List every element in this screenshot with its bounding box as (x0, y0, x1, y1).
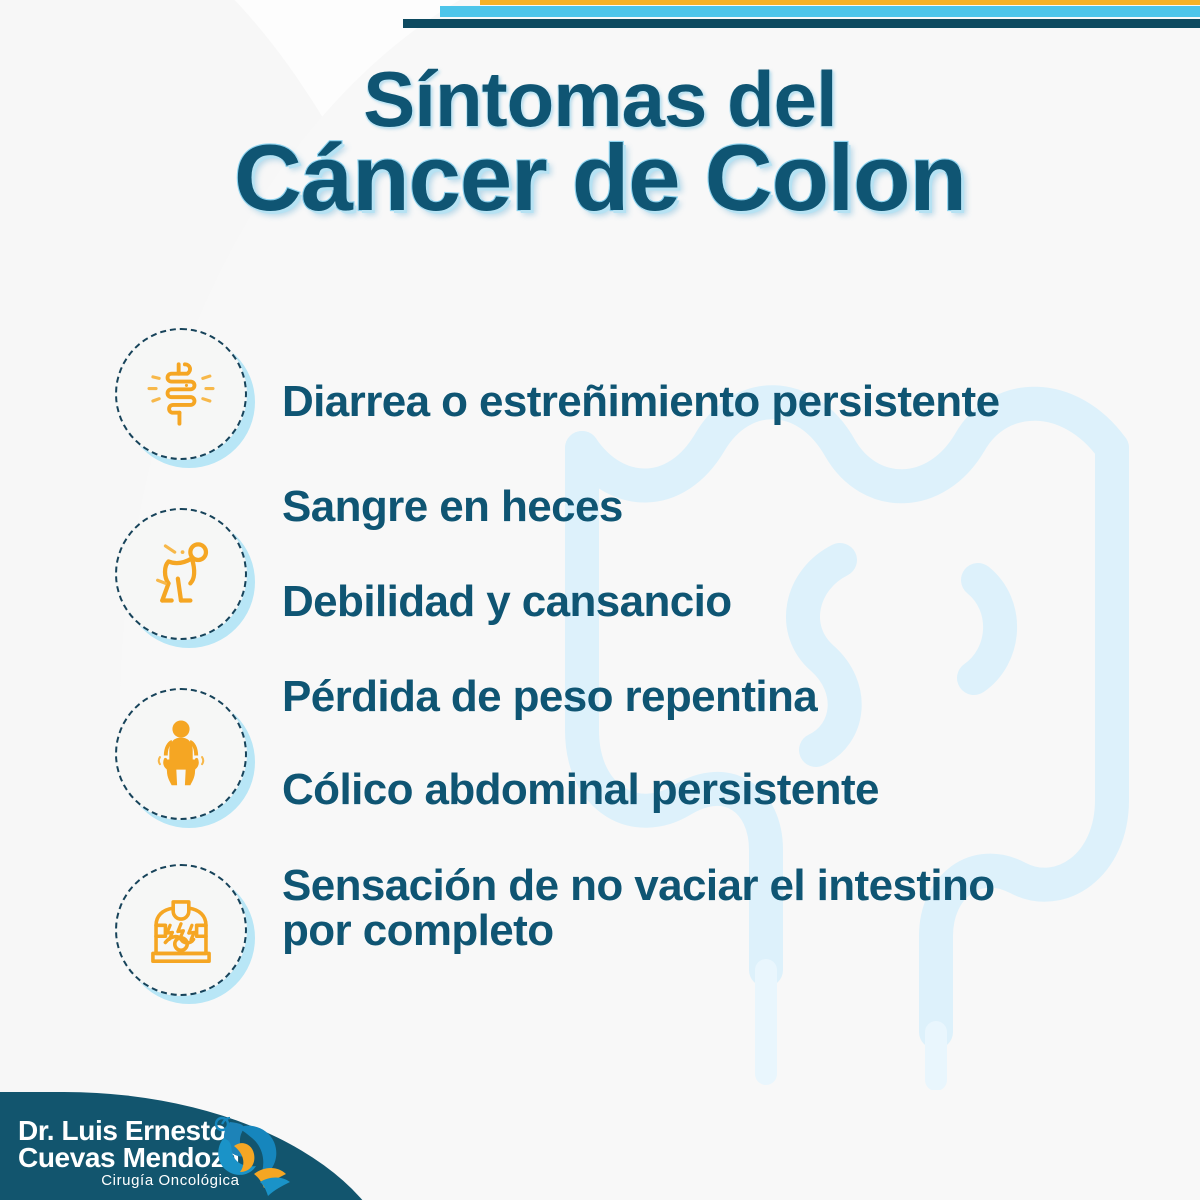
top-stripe-teal (403, 19, 1200, 28)
symptom-text-1: Diarrea o estreñimiento persistente (282, 380, 999, 425)
symptom-text-6: Sensación de no vaciar el intestino por … (282, 864, 995, 954)
top-stripe-cyan (440, 6, 1200, 17)
icon-slot-fatigue (115, 508, 247, 640)
title-line-2: Cáncer de Colon (0, 131, 1200, 225)
abdominal-pain-torso-icon (142, 891, 220, 969)
clinic-logo-mark-icon (194, 1112, 302, 1198)
icon-circle-weight-loss (115, 688, 247, 820)
intestine-pain-icon (142, 355, 220, 433)
poster-title: Síntomas del Cáncer de Colon (0, 62, 1200, 225)
weight-loss-person-icon (142, 715, 220, 793)
symptom-text-2: Sangre en heces (282, 485, 623, 530)
symptom-text-3: Debilidad y cansancio (282, 580, 732, 625)
poster-canvas: Síntomas del Cáncer de Colon (0, 0, 1200, 1200)
icon-slot-intestine (115, 328, 247, 460)
symptom-text-5: Cólico abdominal persistente (282, 768, 879, 813)
icon-circle-abdominal-pain (115, 864, 247, 996)
icon-circle-fatigue (115, 508, 247, 640)
top-stripe-yellow (480, 0, 1200, 5)
icon-circle-intestine (115, 328, 247, 460)
symptom-text-4: Pérdida de peso repentina (282, 675, 817, 720)
fatigue-person-icon (142, 535, 220, 613)
icon-slot-weight-loss (115, 688, 247, 820)
icon-slot-abdominal-pain (115, 864, 247, 996)
